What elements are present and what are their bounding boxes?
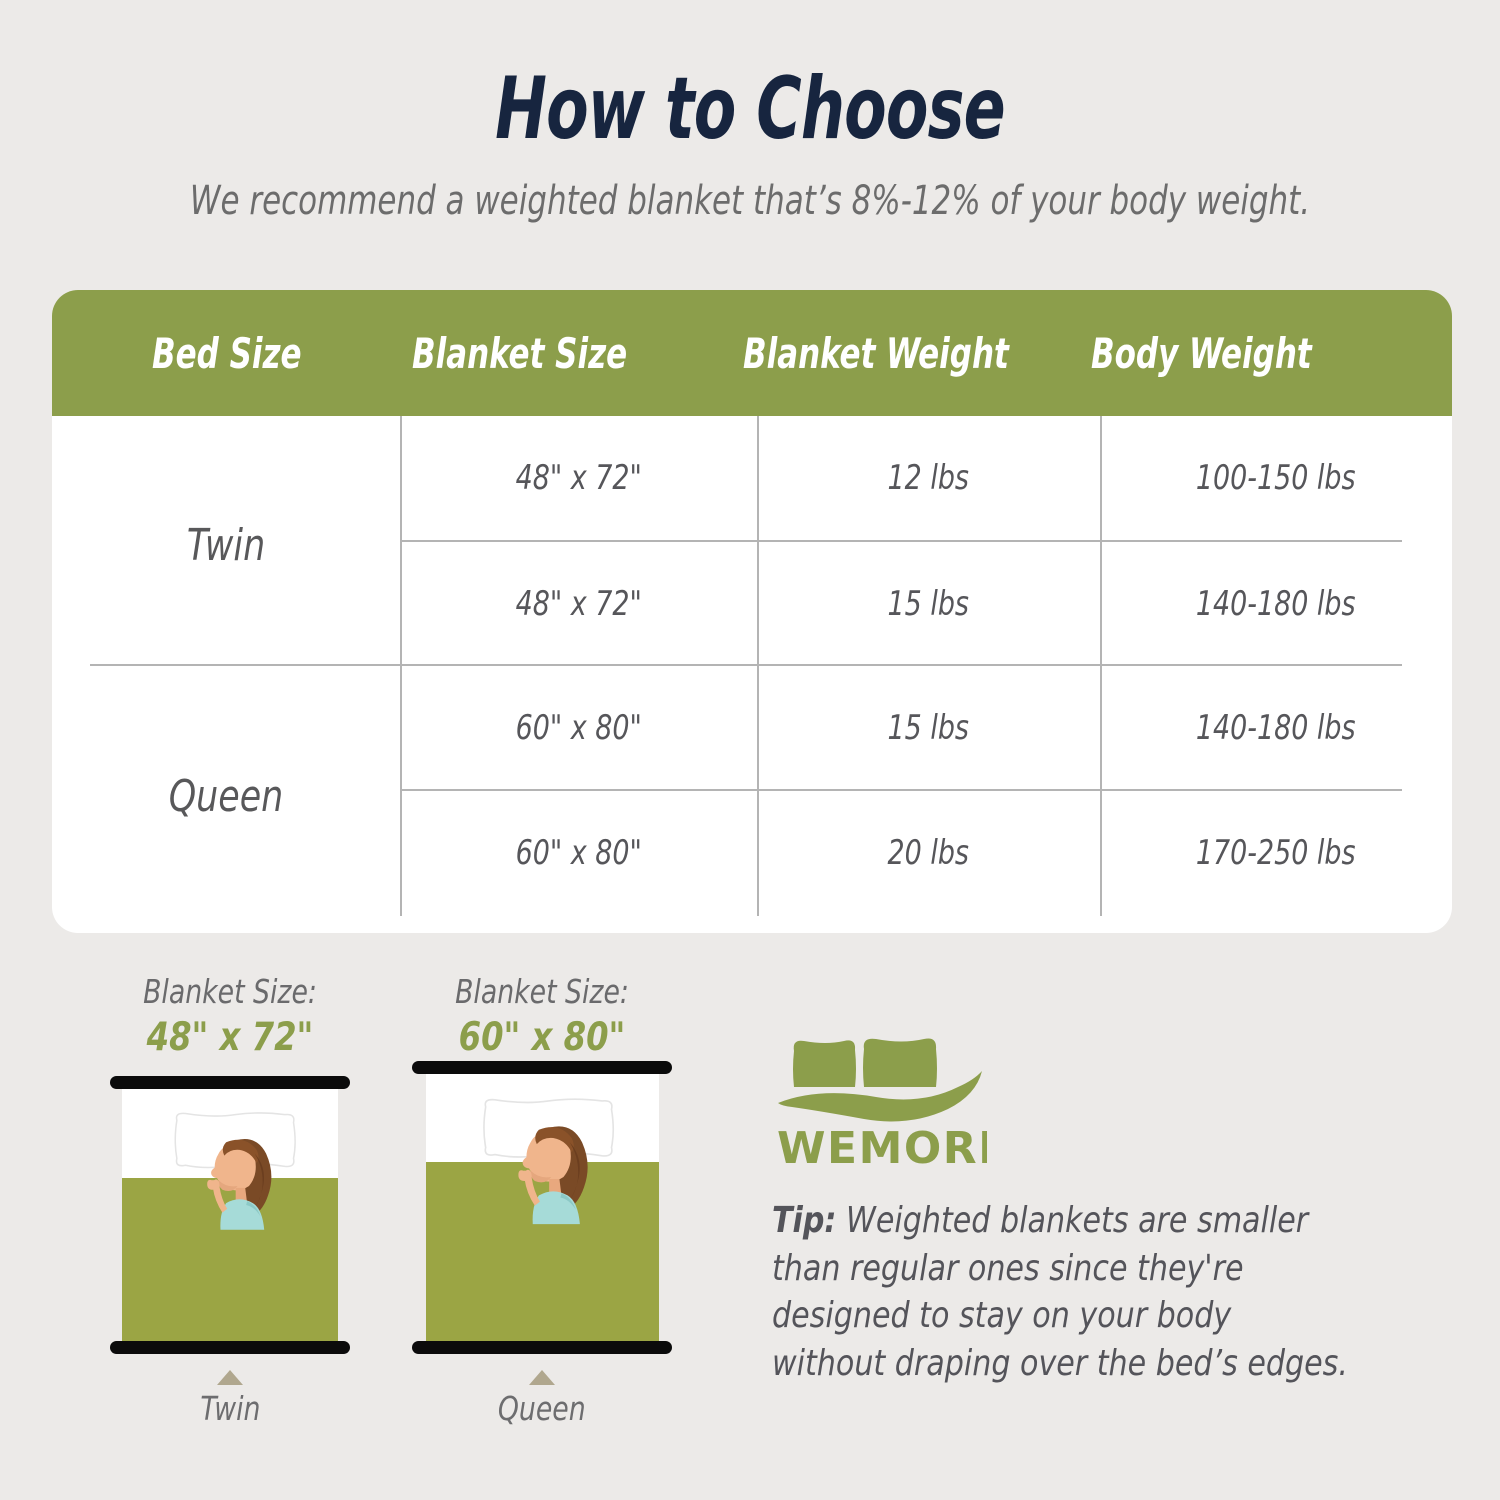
blanket-size-label: Blanket Size:: [425, 972, 659, 1011]
cell-blanket-weight: 12 lbs: [757, 458, 1100, 498]
table-row: 60" x 80" 15 lbs 140-180 lbs: [400, 666, 1452, 790]
cell-body-weight: 140-180 lbs: [1100, 708, 1452, 748]
footboard: [412, 1341, 672, 1354]
svg-text:WEMORE: WEMORE: [777, 1123, 987, 1173]
column-header-blanket-weight: Blanket Weight: [743, 329, 1009, 378]
cell-body-weight: 170-250 lbs: [1100, 833, 1452, 873]
table-row: 48" x 72" 12 lbs 100-150 lbs: [400, 416, 1452, 540]
bed-size-label-queen: Queen: [73, 771, 379, 822]
column-header-body-weight: Body Weight: [1091, 329, 1312, 378]
cell-blanket-size: 48" x 72": [400, 458, 757, 498]
mattress: [122, 1089, 338, 1341]
mattress: [426, 1074, 659, 1341]
cell-blanket-weight: 15 lbs: [757, 584, 1100, 624]
cell-blanket-size: 60" x 80": [400, 833, 757, 873]
table-row: 60" x 80" 20 lbs 170-250 lbs: [400, 791, 1452, 915]
blanket-size-value: 48" x 72": [120, 1015, 341, 1060]
bed-caption-label: Twin: [200, 1389, 260, 1428]
table-header-row: Bed Size Blanket Size Blanket Weight Bod…: [52, 290, 1452, 416]
sleeping-woman-icon: [194, 1122, 289, 1233]
triangle-up-icon: [529, 1370, 555, 1385]
bed-illustration-icon: [412, 1061, 672, 1354]
wemore-pillows-logo-icon: WEMORE: [772, 1025, 987, 1173]
blanket-size-value: 60" x 80": [422, 1015, 661, 1060]
bed-illustration-icon: [110, 1076, 350, 1354]
blanket-size-label: Blanket Size:: [122, 972, 338, 1011]
tip-paragraph: Tip: Weighted blankets are smaller than …: [772, 1197, 1392, 1387]
cell-blanket-weight: 15 lbs: [757, 708, 1100, 748]
recommendation-table-card: Bed Size Blanket Size Blanket Weight Bod…: [52, 290, 1452, 933]
cell-blanket-size: 48" x 72": [400, 584, 757, 624]
sleeping-woman-icon: [504, 1109, 607, 1226]
table-row: 48" x 72" 15 lbs 140-180 lbs: [400, 542, 1452, 666]
bed-caption-twin: Twin: [110, 1370, 350, 1428]
table-body: Twin Queen 48" x 72" 12 lbs 100-150 lbs …: [52, 416, 1452, 933]
cell-blanket-size: 60" x 80": [400, 708, 757, 748]
triangle-up-icon: [217, 1370, 243, 1385]
headboard: [110, 1076, 350, 1089]
column-header-bed-size: Bed Size: [152, 329, 302, 378]
brand-and-tip: WEMORE Tip: Weighted blankets are smalle…: [772, 1025, 1392, 1387]
page-title: How to Choose: [150, 64, 1350, 154]
tip-label: Tip:: [772, 1200, 836, 1241]
cell-body-weight: 140-180 lbs: [1100, 584, 1452, 624]
headboard: [412, 1061, 672, 1074]
illustration-twin: Blanket Size: 48" x 72": [110, 972, 350, 1428]
page-header: How to Choose We recommend a weighted bl…: [0, 0, 1500, 224]
bed-caption-label: Queen: [498, 1389, 586, 1428]
tip-text: Weighted blankets are smaller than regul…: [772, 1200, 1348, 1384]
footboard: [110, 1341, 350, 1354]
illustration-queen: Blanket Size: 60" x 80": [412, 972, 672, 1428]
column-header-blanket-size: Blanket Size: [412, 329, 627, 378]
cell-blanket-weight: 20 lbs: [757, 833, 1100, 873]
cell-body-weight: 100-150 lbs: [1100, 458, 1452, 498]
bed-size-label-twin: Twin: [73, 520, 379, 571]
page-subtitle: We recommend a weighted blanket that’s 8…: [105, 178, 1395, 224]
bed-caption-queen: Queen: [412, 1370, 672, 1428]
